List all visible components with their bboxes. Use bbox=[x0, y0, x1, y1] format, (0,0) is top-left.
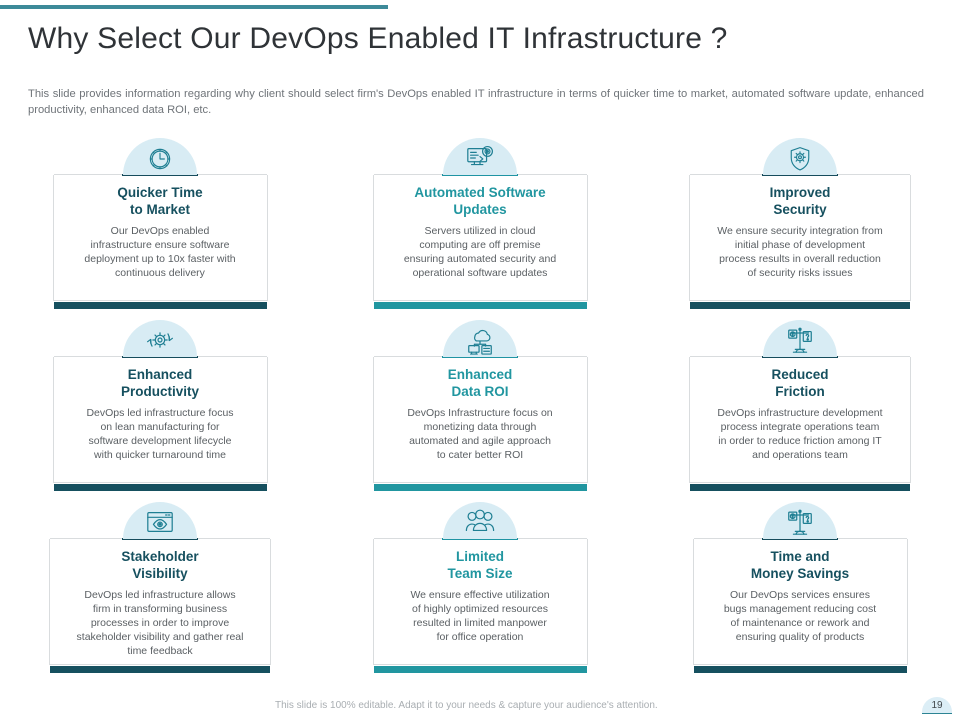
cloud-devices-icon bbox=[465, 325, 495, 355]
card-bottom-bar bbox=[374, 302, 587, 309]
gear-refresh-icon bbox=[145, 325, 175, 355]
people-group-icon bbox=[465, 507, 495, 537]
balance-scale-icon bbox=[785, 325, 815, 355]
feature-card[interactable]: Stakeholder VisibilityDevOps led infrast… bbox=[49, 539, 271, 665]
feature-card[interactable]: Automated Software UpdatesServers utiliz… bbox=[373, 175, 588, 301]
page-number: 19 bbox=[931, 700, 942, 711]
card-cell: Limited Team SizeWe ensure effective uti… bbox=[320, 502, 640, 684]
icon-badge bbox=[123, 138, 197, 175]
card-bottom-bar bbox=[54, 484, 267, 491]
card-bottom-bar bbox=[690, 484, 910, 491]
card-cell: Improved SecurityWe ensure security inte… bbox=[640, 138, 960, 320]
card-cell: Stakeholder VisibilityDevOps led infrast… bbox=[0, 502, 320, 684]
card-title: Automated Software Updates bbox=[382, 185, 579, 219]
cards-grid: Quicker Time to MarketOur DevOps enabled… bbox=[0, 138, 960, 684]
card-cell: Enhanced Data ROIDevOps Infrastructure f… bbox=[320, 320, 640, 502]
feature-card[interactable]: Improved SecurityWe ensure security inte… bbox=[689, 175, 911, 301]
shield-gear-icon bbox=[786, 145, 814, 173]
card-cell: Time and Money SavingsOur DevOps service… bbox=[640, 502, 960, 684]
card-title: Limited Team Size bbox=[382, 549, 579, 583]
clock-icon bbox=[146, 145, 174, 173]
card-body: DevOps infrastructure development proces… bbox=[698, 406, 902, 463]
card-title: Reduced Friction bbox=[698, 367, 902, 401]
card-cell: Quicker Time to MarketOur DevOps enabled… bbox=[0, 138, 320, 320]
card-body: DevOps Infrastructure focus on monetizin… bbox=[382, 406, 579, 463]
icon-badge bbox=[443, 138, 517, 175]
icon-badge bbox=[443, 502, 517, 539]
card-cell: Reduced FrictionDevOps infrastructure de… bbox=[640, 320, 960, 502]
card-title: Enhanced Productivity bbox=[62, 367, 259, 401]
header: Why Select Our DevOps Enabled IT Infrast… bbox=[28, 22, 928, 57]
card-body: DevOps led infrastructure allows firm in… bbox=[58, 588, 262, 659]
card-body: DevOps led infrastructure focus on lean … bbox=[62, 406, 259, 463]
feature-card[interactable]: Quicker Time to MarketOur DevOps enabled… bbox=[53, 175, 268, 301]
monitor-settings-icon bbox=[465, 143, 495, 173]
icon-badge bbox=[123, 320, 197, 357]
feature-card[interactable]: Enhanced Data ROIDevOps Infrastructure f… bbox=[373, 357, 588, 483]
balance-scale-icon bbox=[785, 507, 815, 537]
card-title: Stakeholder Visibility bbox=[58, 549, 262, 583]
card-title: Enhanced Data ROI bbox=[382, 367, 579, 401]
feature-card[interactable]: Enhanced ProductivityDevOps led infrastr… bbox=[53, 357, 268, 483]
icon-badge bbox=[763, 320, 837, 357]
page-subtitle: This slide provides information regardin… bbox=[28, 86, 924, 118]
feature-card[interactable]: Time and Money SavingsOur DevOps service… bbox=[693, 539, 908, 665]
icon-badge bbox=[443, 320, 517, 357]
footer-note: This slide is 100% editable. Adapt it to… bbox=[275, 700, 658, 711]
page-title: Why Select Our DevOps Enabled IT Infrast… bbox=[28, 22, 928, 57]
card-bottom-bar bbox=[54, 302, 267, 309]
icon-badge bbox=[763, 502, 837, 539]
card-bottom-bar bbox=[374, 484, 587, 491]
card-body: Our DevOps services ensures bugs managem… bbox=[702, 588, 899, 645]
icon-badge bbox=[123, 502, 197, 539]
card-bottom-bar bbox=[694, 666, 907, 673]
card-title: Quicker Time to Market bbox=[62, 185, 259, 219]
card-body: Our DevOps enabled infrastructure ensure… bbox=[62, 224, 259, 281]
feature-card[interactable]: Reduced FrictionDevOps infrastructure de… bbox=[689, 357, 911, 483]
card-cell: Enhanced ProductivityDevOps led infrastr… bbox=[0, 320, 320, 502]
browser-eye-icon bbox=[145, 507, 175, 537]
page-number-badge: 19 bbox=[922, 697, 952, 714]
feature-card[interactable]: Limited Team SizeWe ensure effective uti… bbox=[373, 539, 588, 665]
card-body: We ensure security integration from init… bbox=[698, 224, 902, 281]
card-bottom-bar bbox=[50, 666, 270, 673]
card-cell: Automated Software UpdatesServers utiliz… bbox=[320, 138, 640, 320]
top-accent-bar bbox=[0, 5, 388, 9]
card-title: Time and Money Savings bbox=[702, 549, 899, 583]
card-title: Improved Security bbox=[698, 185, 902, 219]
card-body: Servers utilized in cloud computing are … bbox=[382, 224, 579, 281]
card-bottom-bar bbox=[690, 302, 910, 309]
card-bottom-bar bbox=[374, 666, 587, 673]
icon-badge bbox=[763, 138, 837, 175]
card-body: We ensure effective utilization of highl… bbox=[382, 588, 579, 645]
